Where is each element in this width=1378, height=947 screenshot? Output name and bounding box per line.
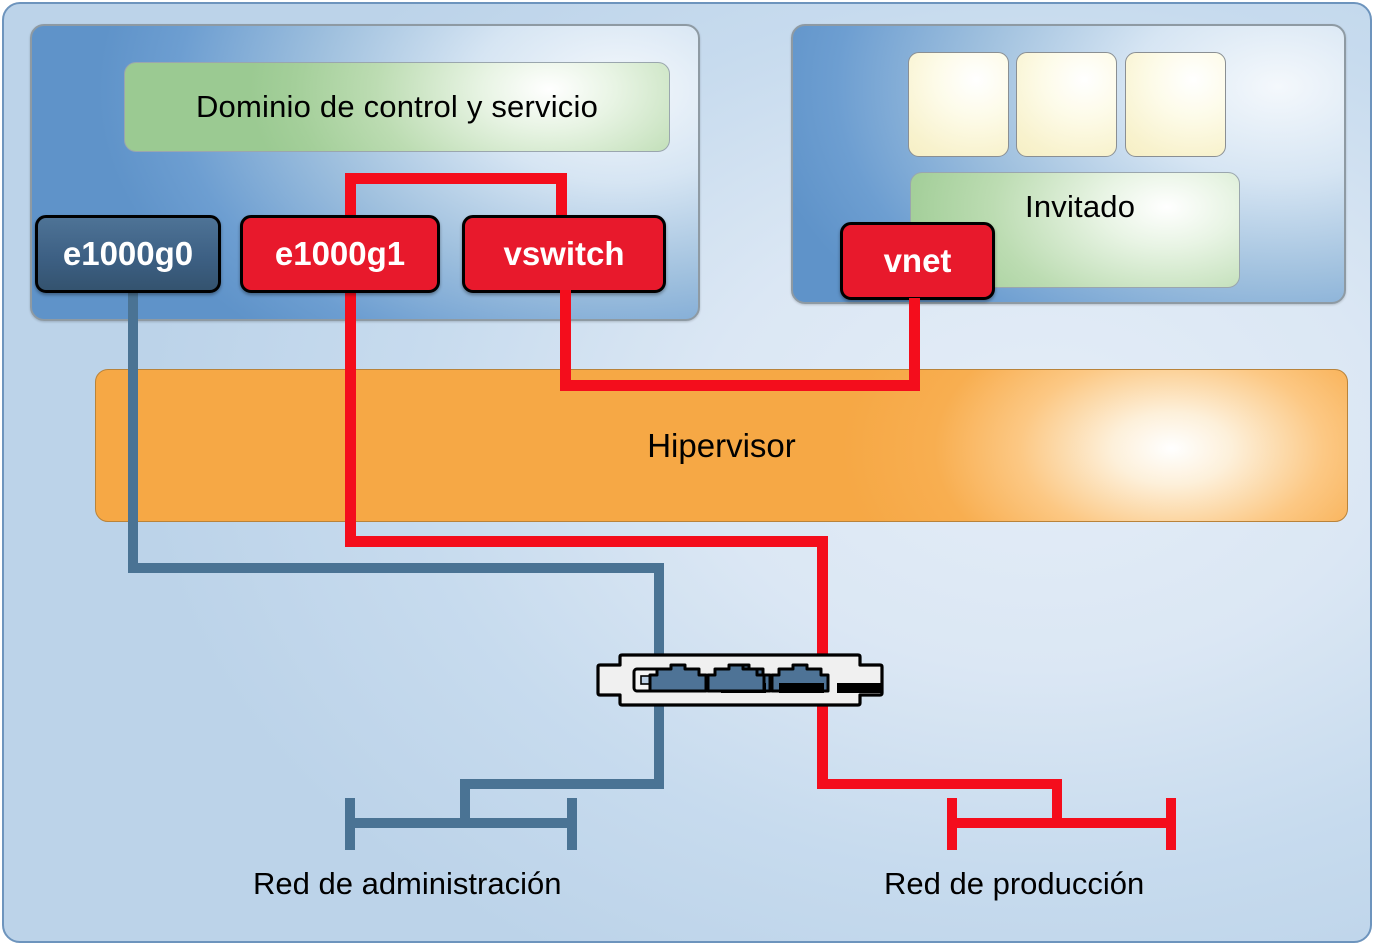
guest-app-slot-2 — [1016, 52, 1117, 157]
wire-blue-network-end-left — [345, 798, 355, 850]
wire-red-network-end-left — [947, 798, 957, 850]
wire-blue-network-end-right — [567, 798, 577, 850]
control-domain-title: Dominio de control y servicio — [124, 62, 670, 152]
wire-red-vswitch-down — [560, 290, 571, 390]
network-interface-card[interactable] — [592, 653, 888, 707]
rj45-port-icon — [772, 665, 828, 693]
hypervisor-bar: Hipervisor — [95, 369, 1348, 522]
wire-red-bracket-stem — [817, 779, 1062, 789]
wire-blue-bracket-stem — [460, 779, 664, 789]
diagram-canvas: Dominio de control y servicio Invitado H… — [0, 0, 1378, 947]
wire-red-vswitch-vnet-bridge — [560, 380, 920, 391]
guest-app-slot-3 — [1125, 52, 1226, 157]
guest-app-slot-1 — [908, 52, 1009, 157]
node-vnet[interactable]: vnet — [840, 222, 995, 300]
wire-red-vnet-down — [909, 298, 920, 390]
node-e1000g0[interactable]: e1000g0 — [35, 215, 221, 293]
node-vswitch[interactable]: vswitch — [462, 215, 666, 293]
network-label-administracion: Red de administración — [253, 866, 561, 902]
network-label-produccion: Red de producción — [884, 866, 1144, 902]
wire-red-network-bar — [950, 818, 1175, 828]
wire-red-top-bracket — [345, 173, 567, 184]
wire-red-cross-hypervisor — [345, 369, 356, 545]
hypervisor-label: Hipervisor — [647, 427, 796, 465]
node-e1000g1[interactable]: e1000g1 — [240, 215, 440, 293]
wire-red-horizontal-run — [345, 536, 828, 547]
nic-card-graphic — [592, 653, 888, 707]
wire-blue-horizontal-run — [128, 563, 664, 573]
wire-blue-network-bar — [345, 818, 577, 828]
wire-red-network-end-right — [1166, 798, 1176, 850]
wire-blue-cross-hypervisor — [128, 369, 138, 573]
